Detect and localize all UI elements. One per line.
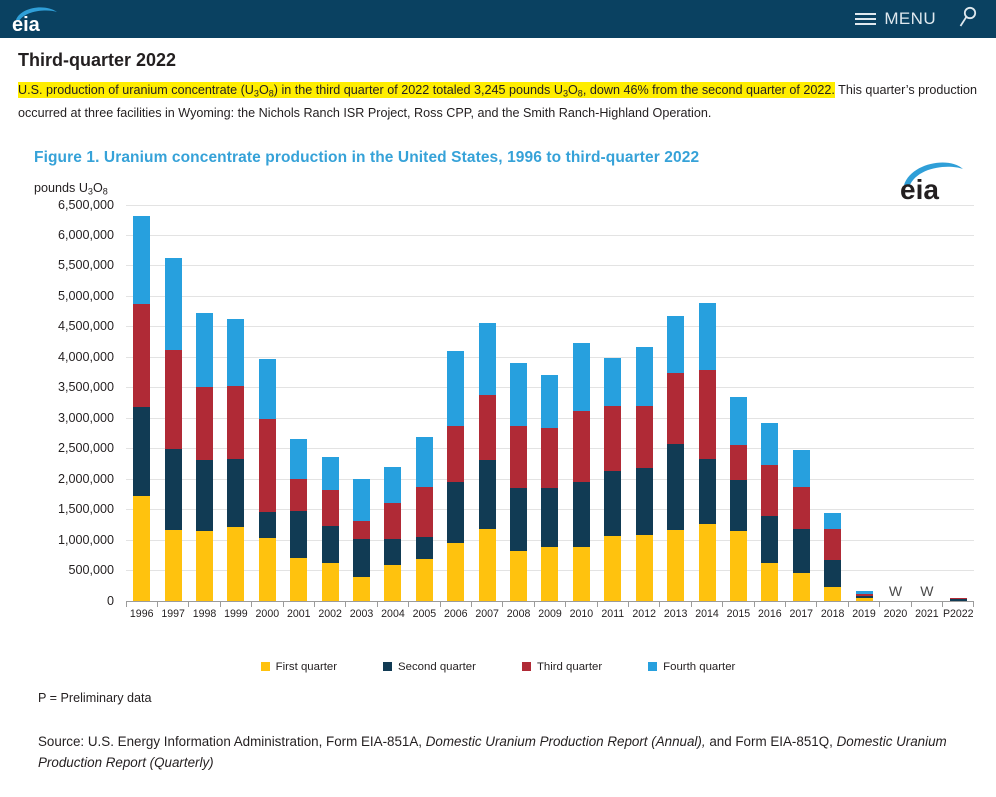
x-axis-tick [597,601,628,607]
bar-segment-q2[interactable] [133,407,150,495]
x-axis-tick-label: 2001 [283,608,314,620]
bar-segment-q1[interactable] [227,527,244,600]
x-axis-tick-label: 2010 [566,608,597,620]
x-axis-tick [252,601,283,607]
stacked-bar[interactable] [824,513,841,601]
y-axis-tick-label: 5,500,000 [58,258,114,272]
x-axis-tick-label: 2015 [723,608,754,620]
stacked-bar[interactable] [353,479,370,601]
bar-segment-q4[interactable] [259,359,276,419]
bar-segment-q2[interactable] [793,529,810,573]
x-axis-tick-label: 2021 [911,608,942,620]
x-axis-tick-label: 2016 [754,608,785,620]
eia-logo[interactable]: eia [10,4,62,34]
bar-segment-q1[interactable] [510,551,527,600]
bar-segment-q4[interactable] [541,375,558,428]
x-axis-tick-label: 2012 [629,608,660,620]
stacked-bar[interactable] [667,316,684,600]
bar-segment-q3[interactable] [322,490,339,525]
x-axis-tick [566,601,597,607]
bar-slot[interactable] [126,205,157,601]
bar-slot[interactable] [629,205,660,601]
bar-segment-q4[interactable] [416,437,433,488]
x-axis-tick [534,601,565,607]
bar-segment-q2[interactable] [510,488,527,551]
menu-button[interactable]: MENU [855,9,936,29]
bar-segment-q1[interactable] [479,529,496,600]
bar-segment-q2[interactable] [541,488,558,546]
stacked-bar[interactable] [447,351,464,601]
bar-segment-q1[interactable] [604,536,621,601]
y-axis-tick-label: 3,500,000 [58,380,114,394]
x-axis-tick-label: 2000 [252,608,283,620]
x-axis-tick [723,601,754,607]
bar-segment-q3[interactable] [416,487,433,536]
withheld-marker: W [889,583,902,599]
legend-swatch [261,662,270,671]
bar-slot[interactable] [943,205,974,601]
bar-segment-q1[interactable] [730,531,747,600]
bar-segment-q1[interactable] [447,543,464,600]
bar-segment-q3[interactable] [384,503,401,539]
stacked-bar[interactable] [761,423,778,600]
source-prefix: Source: U.S. Energy Information Administ… [38,734,426,749]
x-axis-tick [817,601,848,607]
bar-segment-q4[interactable] [636,347,653,406]
bar-segment-q2[interactable] [165,449,182,531]
bar-segment-q3[interactable] [165,350,182,449]
y-axis-tick-label: 0 [107,594,114,608]
x-axis-labels: 1996199719981999200020012002200320042005… [126,608,974,620]
bar-segment-q3[interactable] [196,387,213,461]
bar-segment-q3[interactable] [227,386,244,459]
bar-slot[interactable] [283,205,314,601]
legend-label: Fourth quarter [663,661,735,673]
x-axis-tick-label: 1999 [220,608,251,620]
bar-segment-q3[interactable] [290,479,307,511]
bar-segment-q1[interactable] [290,558,307,601]
source-italic-annual: Domestic Uranium Production Report (Annu… [426,734,706,749]
bar-segment-q2[interactable] [761,516,778,563]
legend-swatch [522,662,531,671]
bar-segment-q1[interactable] [541,547,558,601]
bar-slot[interactable] [597,205,628,601]
bar-segment-q4[interactable] [604,358,621,406]
stacked-bar[interactable] [227,319,244,600]
bar-segment-q1[interactable] [573,547,590,601]
bar-slot[interactable] [157,205,188,601]
bar-segment-q2[interactable] [667,444,684,531]
bar-segment-q3[interactable] [667,373,684,444]
stacked-bar[interactable] [856,591,873,600]
legend-swatch [648,662,657,671]
stacked-bar[interactable] [290,439,307,600]
bar-slot[interactable]: W [880,205,911,601]
bar-segment-q2[interactable] [196,460,213,531]
x-axis-tick [283,601,314,607]
bar-segment-q4[interactable] [447,351,464,426]
bar-segment-q3[interactable] [541,428,558,488]
stacked-bar[interactable] [384,467,401,601]
bar-segment-q2[interactable] [824,560,841,587]
bar-segment-q2[interactable] [259,512,276,538]
y-axis-tick-label: 2,000,000 [58,472,114,486]
bar-slot[interactable] [377,205,408,601]
bar-segment-q3[interactable] [761,465,778,516]
menu-label: MENU [884,9,936,29]
figure-title: Figure 1. Uranium concentrate production… [34,149,982,167]
bar-segment-q1[interactable] [196,531,213,600]
y-axis-tick-label: 4,500,000 [58,319,114,333]
legend-label: First quarter [276,661,337,673]
x-axis: 1996199719981999200020012002200320042005… [126,601,974,629]
bar-segment-q4[interactable] [793,450,810,487]
x-axis-tick [754,601,785,607]
stacked-bar[interactable] [133,216,150,601]
x-axis-tick [314,601,345,607]
bar-segment-q3[interactable] [793,487,810,530]
bar-segment-q3[interactable] [479,395,496,460]
bar-slot[interactable] [314,205,345,601]
x-axis-tick-label: 2011 [597,608,628,620]
bar-segment-q1[interactable] [259,538,276,601]
bar-slot[interactable] [817,205,848,601]
bar-segment-q4[interactable] [761,423,778,465]
page-title: Third-quarter 2022 [18,50,982,71]
stacked-bar[interactable] [479,323,496,601]
y-axis-tick-label: 1,500,000 [58,502,114,516]
x-axis-tick-label: 2003 [346,608,377,620]
bar-slot[interactable]: W [911,205,942,601]
x-axis-tick [220,601,251,607]
bar-segment-q1[interactable] [699,524,716,600]
bar-slot[interactable] [220,205,251,601]
bar-segment-q1[interactable] [416,559,433,601]
y-axis-tick-label: 500,000 [68,563,114,577]
legend-item[interactable]: Third quarter [522,661,602,673]
legend-label: Second quarter [398,661,476,673]
bar-segment-q3[interactable] [133,304,150,408]
bar-segment-q1[interactable] [165,530,182,600]
bar-segment-q1[interactable] [384,565,401,600]
x-axis-tick [346,601,377,607]
bar-segment-q1[interactable] [761,563,778,600]
stacked-bar[interactable] [636,347,653,600]
x-axis-tick [629,601,660,607]
y-axis-tick-label: 3,000,000 [58,411,114,425]
bar-slot[interactable] [691,205,722,601]
legend-swatch [383,662,392,671]
x-axis-tick [848,601,879,607]
bar-segment-q4[interactable] [479,323,496,395]
x-axis-tick-label: 1998 [189,608,220,620]
stacked-bar[interactable] [699,303,716,601]
bar-slot[interactable] [346,205,377,601]
x-axis-tick [911,601,942,607]
bar-slot[interactable] [723,205,754,601]
x-axis-tick [691,601,722,607]
x-axis-tick [660,601,691,607]
stacked-bar[interactable] [793,450,810,600]
bar-slot[interactable] [440,205,471,601]
bar-slot[interactable] [786,205,817,601]
bar-segment-q2[interactable] [353,539,370,577]
stacked-bar[interactable] [541,375,558,600]
bar-segment-q4[interactable] [384,467,401,504]
stacked-bar[interactable] [196,313,213,601]
x-axis-tick [503,601,534,607]
y-axis-tick-label: 4,000,000 [58,350,114,364]
bar-segment-q2[interactable] [290,511,307,558]
bar-slot[interactable] [848,205,879,601]
bar-segment-q2[interactable] [227,459,244,528]
legend-item[interactable]: Second quarter [383,661,476,673]
y-axis-labels: 6,500,0006,000,0005,500,0005,000,0004,50… [34,205,120,601]
bar-segment-q1[interactable] [793,573,810,600]
bar-segment-q3[interactable] [447,426,464,483]
x-axis-tick-label: 1997 [157,608,188,620]
bar-segment-q2[interactable] [636,468,653,536]
y-axis-tick-label: 6,000,000 [58,228,114,242]
y-axis-units-label: pounds U3O8 [34,181,982,196]
figure-1: Figure 1. Uranium concentrate production… [14,149,982,672]
x-axis-tick-label: 2019 [848,608,879,620]
x-axis-tick-label: 2006 [440,608,471,620]
x-axis-tick-label: 2007 [471,608,502,620]
bar-segment-q4[interactable] [730,397,747,445]
bar-segment-q3[interactable] [636,406,653,468]
x-axis-tick [440,601,471,607]
withheld-marker: W [920,583,933,599]
y-axis-tick-label: 2,500,000 [58,441,114,455]
bar-slot[interactable] [754,205,785,601]
bar-segment-q4[interactable] [573,343,590,411]
bar-segment-q2[interactable] [604,471,621,536]
x-axis-tick [189,601,220,607]
bar-slot[interactable] [534,205,565,601]
bar-segment-q4[interactable] [290,439,307,479]
bar-segment-q2[interactable] [447,482,464,543]
highlighted-sentence: U.S. production of uranium concentrate (… [18,82,835,98]
bar-segment-q4[interactable] [227,319,244,385]
x-axis-tick [786,601,817,607]
x-axis-tick-label: 2013 [660,608,691,620]
bar-slot[interactable] [566,205,597,601]
figure-source: Source: U.S. Energy Information Administ… [38,731,982,773]
x-axis-tick-label: 2008 [503,608,534,620]
search-icon[interactable] [958,6,978,33]
bar-segment-q3[interactable] [353,521,370,539]
x-axis-tick-label: 1996 [126,608,157,620]
x-axis-tick-label: 2017 [786,608,817,620]
stacked-bar[interactable] [416,437,433,601]
bar-segment-q1[interactable] [322,563,339,600]
bar-segment-q4[interactable] [322,457,339,490]
figure-footnote: P = Preliminary data [38,691,982,705]
bar-slot[interactable] [252,205,283,601]
x-axis-tick-label: 2002 [314,608,345,620]
site-header: eia MENU [0,0,996,38]
chart-plot-area: 6,500,0006,000,0005,500,0005,000,0004,50… [34,205,982,625]
x-axis-tick [377,601,408,607]
stacked-bar[interactable] [165,258,182,601]
legend-item[interactable]: Fourth quarter [648,661,735,673]
stacked-bar[interactable] [510,363,527,601]
x-axis-tick [126,601,157,607]
x-axis-tick [943,601,974,607]
bar-segment-q2[interactable] [573,482,590,547]
bar-segment-q1[interactable] [667,530,684,600]
stacked-bar[interactable] [730,397,747,600]
bar-slot[interactable] [471,205,502,601]
bar-slot[interactable] [409,205,440,601]
legend-label: Third quarter [537,661,602,673]
bar-segment-q2[interactable] [416,537,433,559]
bar-segment-q3[interactable] [573,411,590,482]
intro-paragraph: U.S. production of uranium concentrate (… [18,80,982,123]
bar-segment-q1[interactable] [636,535,653,600]
bar-series-container: WW [126,205,974,601]
bar-slot[interactable] [189,205,220,601]
x-axis-tick-label: 2014 [691,608,722,620]
bar-segment-q1[interactable] [353,577,370,601]
y-axis-tick-label: 5,000,000 [58,289,114,303]
x-axis-tick-label: 2005 [409,608,440,620]
bar-segment-q4[interactable] [353,479,370,521]
bar-segment-q4[interactable] [699,303,716,370]
bar-segment-q3[interactable] [824,529,841,559]
stacked-bar[interactable] [259,359,276,600]
bar-segment-q2[interactable] [479,460,496,529]
x-axis-ticks [126,601,974,607]
x-axis-tick-label: 2018 [817,608,848,620]
stacked-bar[interactable] [604,358,621,600]
x-axis-tick-label: 2004 [377,608,408,620]
bar-segment-q4[interactable] [824,513,841,529]
bar-segment-q4[interactable] [165,258,182,351]
hamburger-icon [855,13,876,25]
x-axis-tick-label: 2020 [880,608,911,620]
bar-segment-q3[interactable] [259,419,276,512]
bar-segment-q3[interactable] [699,370,716,459]
stacked-bar[interactable] [322,457,339,600]
bar-segment-q2[interactable] [322,526,339,564]
bar-segment-q4[interactable] [133,216,150,304]
x-axis-tick [157,601,188,607]
source-mid: and Form EIA-851Q, [706,734,837,749]
x-axis-tick-label: P2022 [943,608,974,620]
chart-legend: First quarterSecond quarterThird quarter… [14,661,982,673]
bar-segment-q3[interactable] [510,426,527,488]
bar-slot[interactable] [660,205,691,601]
bar-segment-q4[interactable] [510,363,527,426]
y-axis-tick-label: 6,500,000 [58,198,114,212]
x-axis-tick-label: 2009 [534,608,565,620]
legend-item[interactable]: First quarter [261,661,337,673]
bar-segment-q4[interactable] [667,316,684,373]
bar-segment-q4[interactable] [196,313,213,387]
x-axis-tick [471,601,502,607]
eia-logo-icon: eia [10,4,62,34]
bar-segment-q3[interactable] [604,406,621,471]
svg-text:eia: eia [12,14,41,34]
x-axis-tick [880,601,911,607]
eia-watermark-logo: eia [894,155,966,203]
bar-segment-q1[interactable] [824,587,841,600]
svg-text:eia: eia [900,174,939,203]
bar-segment-q2[interactable] [384,539,401,565]
bar-slot[interactable] [503,205,534,601]
bar-segment-q2[interactable] [699,459,716,525]
bar-segment-q1[interactable] [133,496,150,601]
bar-segment-q3[interactable] [730,445,747,480]
stacked-bar[interactable] [573,343,590,601]
y-axis-tick-label: 1,000,000 [58,533,114,547]
bar-segment-q2[interactable] [730,480,747,531]
x-axis-tick [409,601,440,607]
